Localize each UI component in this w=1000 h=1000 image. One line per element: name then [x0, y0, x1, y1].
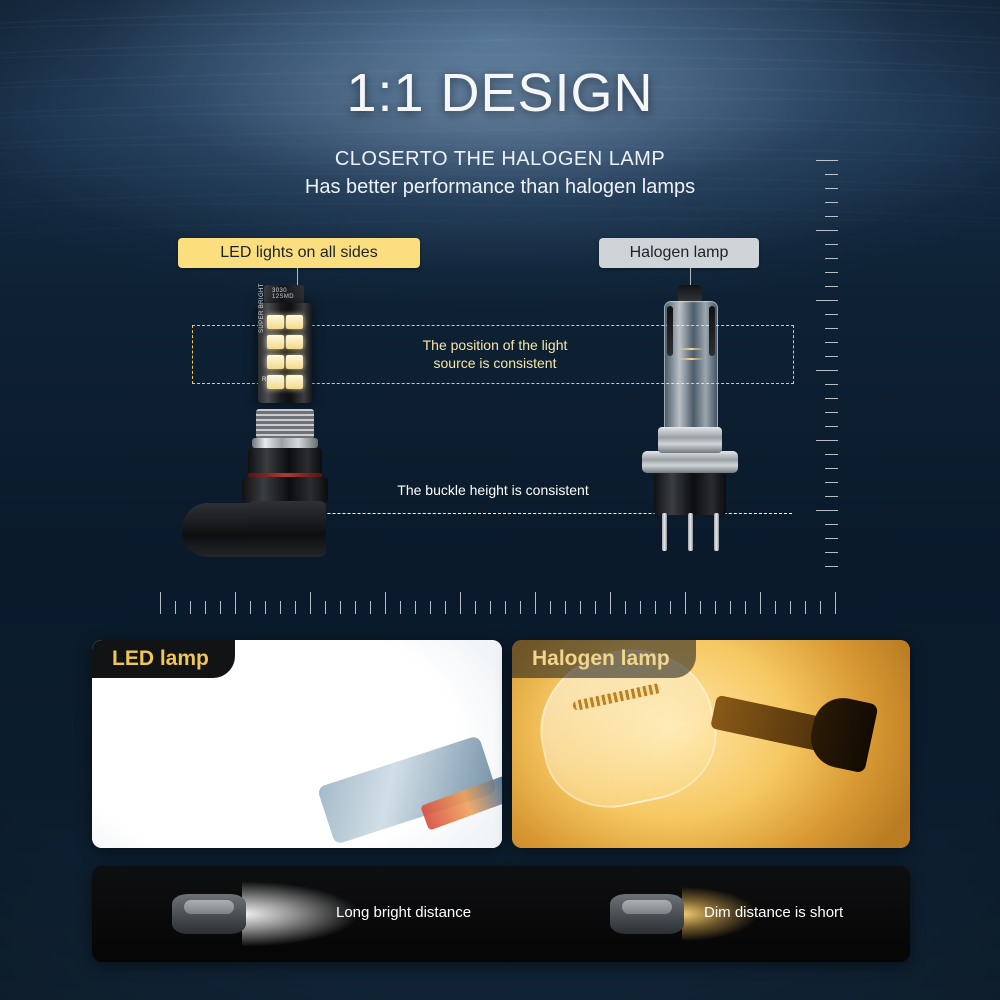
- light-source-note-line2: source is consistent: [434, 355, 557, 371]
- led-metal-ring: [252, 438, 318, 448]
- subtitle-primary: CLOSERTO THE HALOGEN LAMP: [0, 148, 1000, 171]
- vertical-ruler: [812, 160, 838, 580]
- halogen-photo-card: Halogen lamp: [512, 640, 910, 848]
- led-side-text: SUPER BRIGHT: [259, 263, 265, 333]
- callout-led-lights: LED lights on all sides: [178, 238, 420, 268]
- halogen-card-tag: Halogen lamp: [512, 640, 696, 678]
- led-chip: [286, 375, 303, 389]
- wave-texture: [0, 0, 1000, 250]
- subtitle-secondary: Has better performance than halogen lamp…: [0, 176, 1000, 199]
- halogen-pin: [662, 513, 667, 551]
- led-connector-body: [248, 501, 326, 557]
- halogen-black-coat-left: [667, 306, 673, 356]
- beam-comparison-strip: Long bright distance Dim distance is sho…: [92, 866, 910, 962]
- halogen-bulb-image: [640, 285, 760, 575]
- halogen-filament: [679, 348, 703, 350]
- led-base: [248, 448, 322, 476]
- led-card-tag: LED lamp: [92, 640, 235, 678]
- buckle-height-note: The buckle height is consistent: [383, 481, 603, 499]
- led-chip: [267, 355, 284, 369]
- led-chip: [267, 315, 284, 329]
- product-infographic: 1:1 DESIGN CLOSERTO THE HALOGEN LAMP Has…: [0, 0, 1000, 1000]
- car-icon-led: [172, 894, 246, 934]
- led-flange: [242, 477, 328, 503]
- callout-halogen-lamp: Halogen lamp: [599, 238, 759, 268]
- led-chip: [267, 335, 284, 349]
- rohs-mark: RoHS: [262, 377, 280, 383]
- horizontal-ruler: [160, 588, 840, 614]
- halogen-collar: [658, 427, 722, 453]
- led-bulb-image: 3030 12SMD SUPER BRIGHT RoHS: [240, 285, 370, 585]
- halogen-filament: [679, 358, 703, 360]
- led-chip: [286, 335, 303, 349]
- halogen-glass: [664, 301, 718, 431]
- led-chip: [286, 355, 303, 369]
- halogen-pin: [688, 513, 693, 551]
- light-source-note: The position of the light source is cons…: [400, 336, 590, 372]
- led-heatsink: [256, 409, 314, 439]
- led-chip-top-text: 3030 12SMD: [272, 288, 294, 300]
- led-chip: [286, 315, 303, 329]
- halogen-black-coat-right: [709, 306, 715, 356]
- led-body: SUPER BRIGHT: [258, 303, 312, 403]
- led-beam-caption: Long bright distance: [336, 904, 471, 921]
- halogen-pin: [714, 513, 719, 551]
- halogen-photo-cap: [805, 693, 878, 774]
- led-photo-card: LED lamp: [92, 640, 502, 848]
- halogen-base: [654, 473, 726, 515]
- halogen-beam-caption: Dim distance is short: [704, 904, 843, 921]
- halogen-flange: [642, 451, 738, 473]
- page-title: 1:1 DESIGN: [0, 62, 1000, 124]
- led-chip-code-2: 12SMD: [272, 294, 294, 300]
- light-source-note-line1: The position of the light: [423, 337, 568, 353]
- car-icon-halogen: [610, 894, 684, 934]
